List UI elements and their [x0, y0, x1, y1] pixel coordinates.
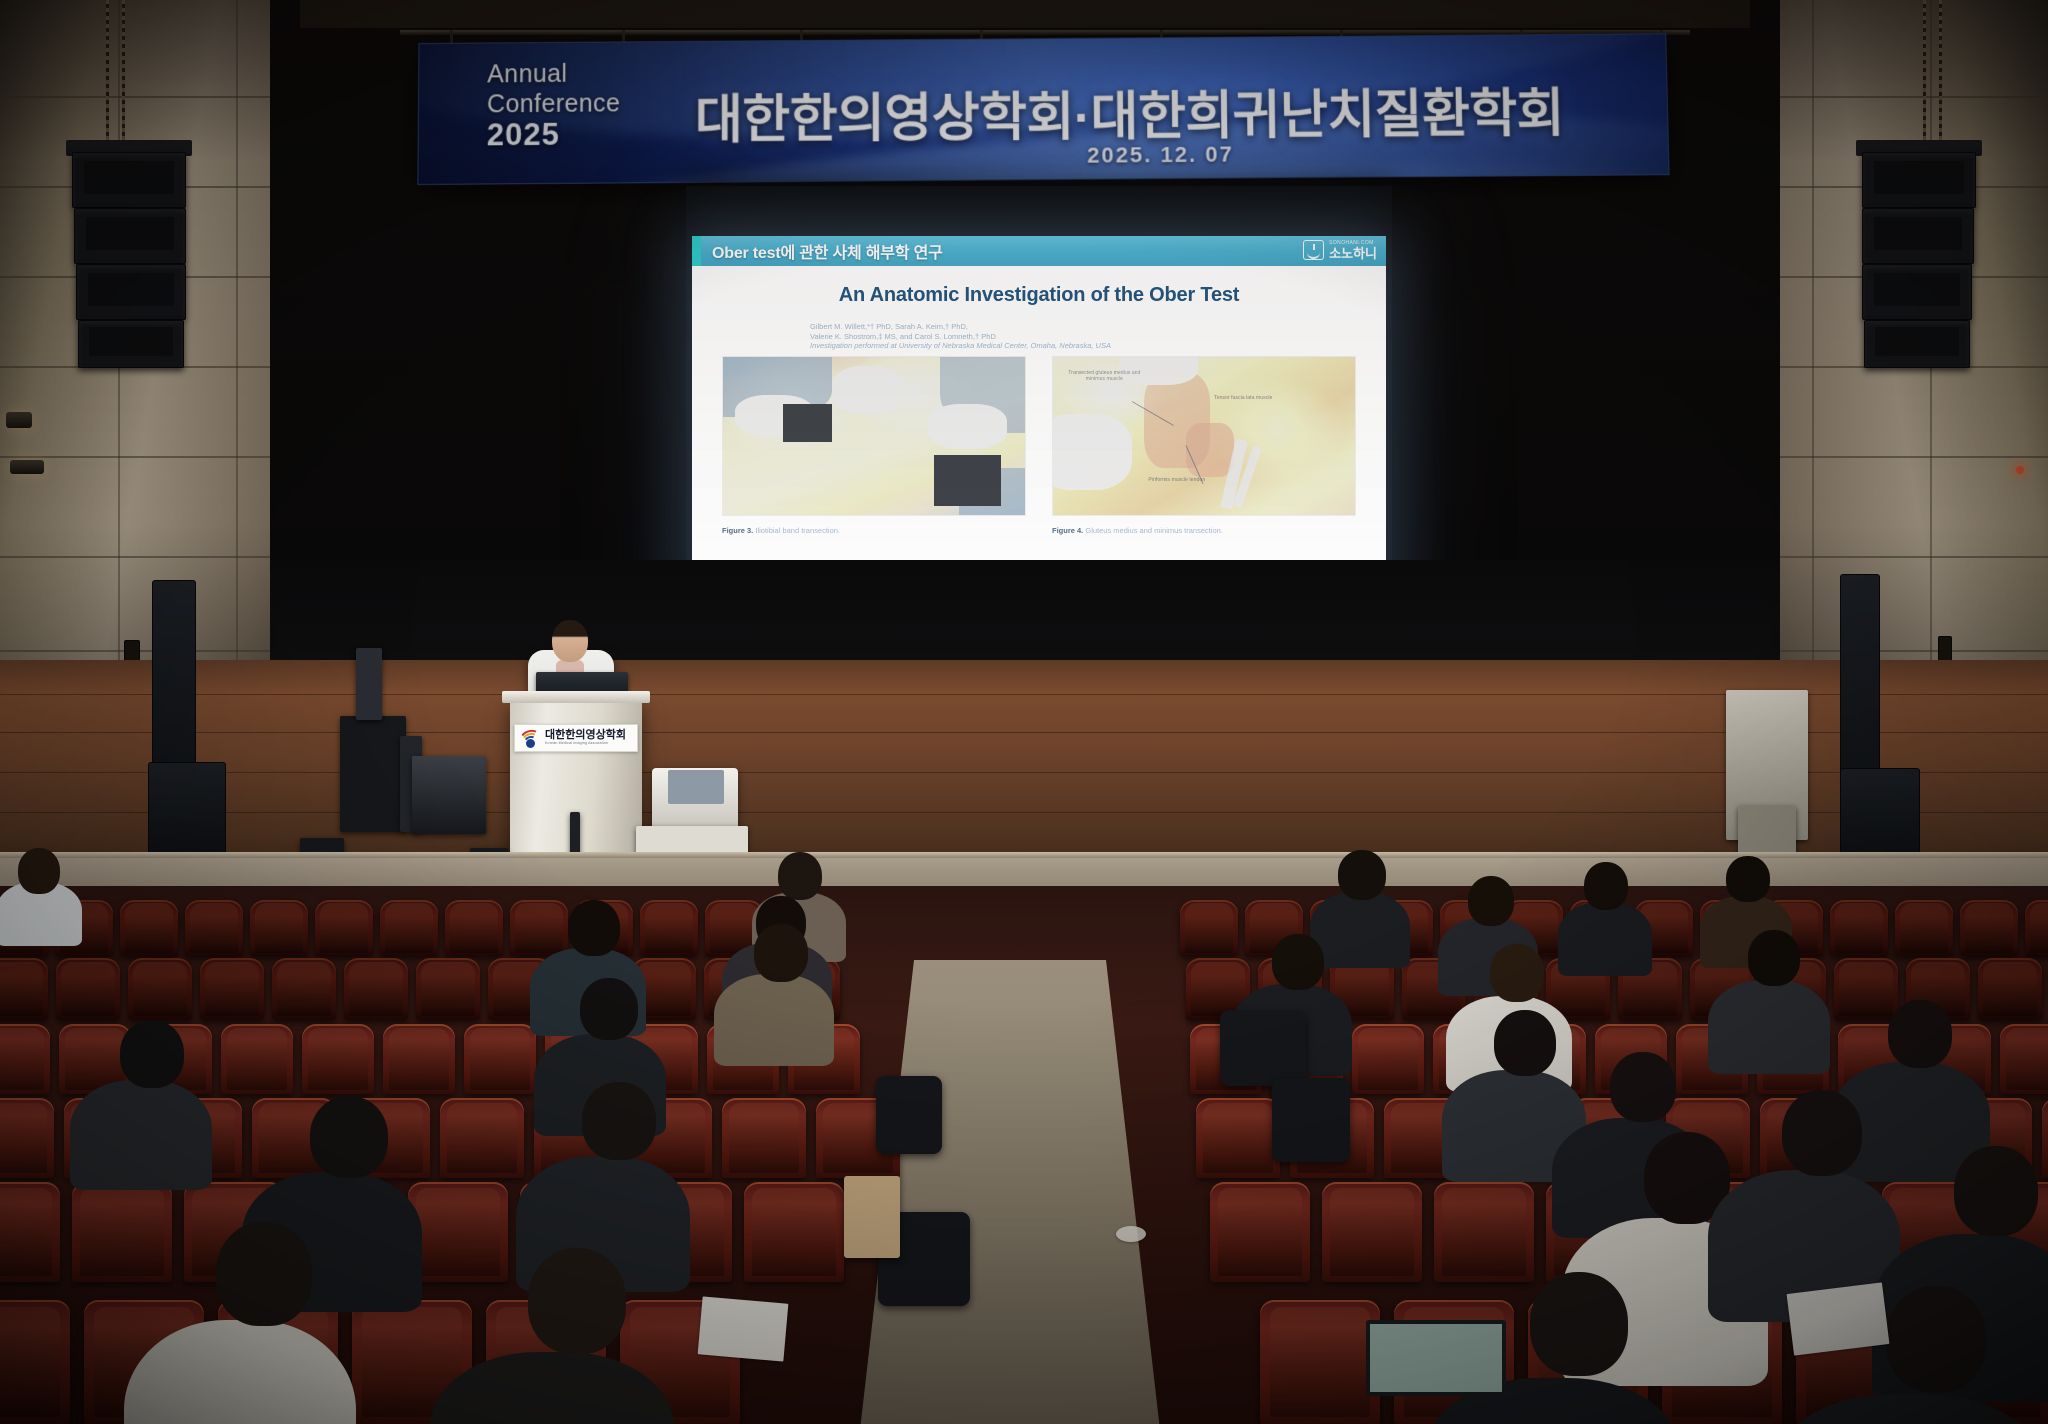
seat[interactable] [1180, 900, 1238, 956]
right-indicator-light [2016, 466, 2024, 474]
sonohani-name: 소노하니 [1329, 247, 1377, 260]
proscenium-header [300, 0, 1750, 28]
authors-affiliation: Investigation performed at University of… [810, 341, 1280, 351]
seat[interactable] [250, 900, 308, 956]
seat-row-5 [0, 1182, 844, 1282]
seat[interactable] [1352, 1024, 1424, 1094]
figure-3-label: Figure 3. [722, 526, 753, 535]
seat[interactable] [128, 958, 192, 1020]
authors-line-2: Valerie K. Shostrom,‡ MS, and Carol S. L… [810, 332, 1280, 342]
seat[interactable] [0, 1024, 50, 1094]
seat[interactable] [440, 1098, 524, 1178]
presenter-head [552, 620, 588, 662]
sonohani-mark-icon [1303, 240, 1324, 260]
seat[interactable] [408, 1182, 508, 1282]
seat[interactable] [1260, 1300, 1380, 1424]
seat[interactable] [416, 958, 480, 1020]
backpack [1272, 1078, 1350, 1162]
seat[interactable] [1210, 1182, 1310, 1282]
figure-4-text: Gluteus medius and minimus transection. [1085, 526, 1223, 535]
kmia-logo-icon [520, 728, 541, 749]
seat[interactable] [72, 1182, 172, 1282]
seat[interactable] [315, 900, 373, 956]
handout-paper [698, 1296, 789, 1361]
podium-placard: 대한한의영상학회 Korean Medical Imaging Associat… [514, 724, 638, 752]
seat[interactable] [2042, 1098, 2048, 1178]
podium-top-surface [502, 691, 650, 703]
slide-header-title: Ober test에 관한 사체 해부학 연구 [712, 239, 943, 263]
seat[interactable] [302, 1024, 374, 1094]
podium-org-korean: 대한한의영상학회 [545, 730, 626, 741]
auditorium-photo: Annual Conference 2025 대한한의영상학회·대한희귀난치질환… [0, 0, 2048, 1424]
seat[interactable] [344, 958, 408, 1020]
banner-annual-line2: Conference [487, 89, 620, 118]
seat[interactable] [1960, 900, 2018, 956]
seat[interactable] [120, 900, 178, 956]
figure-3-caption: Figure 3. Iliotibial band transection. [722, 526, 1026, 535]
figure-3-text: Iliotibial band transection. [755, 526, 840, 535]
left-wall-sconce [6, 412, 32, 428]
figure-3-image [722, 356, 1026, 516]
seat[interactable] [722, 1098, 806, 1178]
left-equipment-case [412, 756, 486, 834]
right-line-array-speaker [1838, 0, 1988, 420]
seat[interactable] [640, 900, 698, 956]
figure-4-label: Figure 4. [1052, 526, 1083, 535]
seat[interactable] [1434, 1182, 1534, 1282]
banner-year: 2025 [487, 119, 620, 150]
seat[interactable] [744, 1182, 844, 1282]
sonohani-logo: SONOHANI.COM 소노하니 [1303, 240, 1377, 260]
slide-header-bar: Ober test에 관한 사체 해부학 연구 SONOHANI.COM 소노하… [692, 236, 1386, 266]
seat[interactable] [56, 958, 120, 1020]
seat[interactable] [185, 900, 243, 956]
seat[interactable] [1322, 1182, 1422, 1282]
slide-authors: Gilbert M. Willett,*† PhD, Sarah A. Keim… [810, 322, 1280, 351]
handout-paper [1787, 1282, 1890, 1355]
conference-banner: Annual Conference 2025 대한한의영상학회·대한희귀난치질환… [417, 33, 1669, 185]
figure-captions: Figure 3. Iliotibial band transection. F… [722, 526, 1356, 535]
backpack [876, 1076, 942, 1154]
seat[interactable] [445, 900, 503, 956]
sonohani-domain: SONOHANI.COM [1329, 241, 1377, 246]
seat[interactable] [2000, 1024, 2048, 1094]
stage-cart-screen [668, 770, 724, 804]
left-wall-sconce-lower [10, 460, 44, 474]
fig4-annotation-1: Transected gluteus medius and minimus mu… [1065, 370, 1144, 383]
seat[interactable] [0, 958, 48, 1020]
seat[interactable] [1830, 900, 1888, 956]
seat[interactable] [1895, 900, 1953, 956]
podium-org-english: Korean Medical Imaging Association [545, 741, 626, 746]
seat[interactable] [464, 1024, 536, 1094]
figure-4-caption: Figure 4. Gluteus medius and minimus tra… [1052, 526, 1356, 535]
figure-4-image: Transected gluteus medius and minimus mu… [1052, 356, 1356, 516]
seat[interactable] [272, 958, 336, 1020]
shopping-bag [844, 1176, 900, 1258]
seat[interactable] [510, 900, 568, 956]
tablet-device[interactable] [1366, 1320, 1506, 1396]
seat[interactable] [221, 1024, 293, 1094]
left-tripod-light [356, 648, 382, 720]
authors-line-1: Gilbert M. Willett,*† PhD, Sarah A. Keim… [810, 322, 1280, 332]
fig4-annotation-3: Piriformis muscle tendon [1138, 477, 1217, 483]
seat-row-1 [0, 900, 828, 956]
seat[interactable] [200, 958, 264, 1020]
left-subwoofer [148, 762, 226, 866]
seat[interactable] [0, 1300, 70, 1424]
slide-title: An Anatomic Investigation of the Ober Te… [692, 284, 1386, 307]
floor-marker [1116, 1226, 1146, 1242]
seat[interactable] [2025, 900, 2048, 956]
banner-annual-line1: Annual [487, 60, 567, 89]
slide-figures: Transected gluteus medius and minimus mu… [722, 356, 1356, 516]
seat[interactable] [1196, 1098, 1280, 1178]
left-line-array-speaker [60, 0, 210, 420]
seat[interactable] [0, 1098, 54, 1178]
seat[interactable] [1978, 958, 2042, 1020]
seat[interactable] [380, 900, 438, 956]
left-equipment-rack [340, 716, 406, 832]
seat[interactable] [1834, 958, 1898, 1020]
seat[interactable] [0, 1182, 60, 1282]
backpack [1220, 1010, 1306, 1086]
seat[interactable] [383, 1024, 455, 1094]
fig4-annotation-2: Tensor fascia lata muscle [1210, 395, 1276, 401]
banner-annual-block: Annual Conference 2025 [487, 58, 621, 150]
